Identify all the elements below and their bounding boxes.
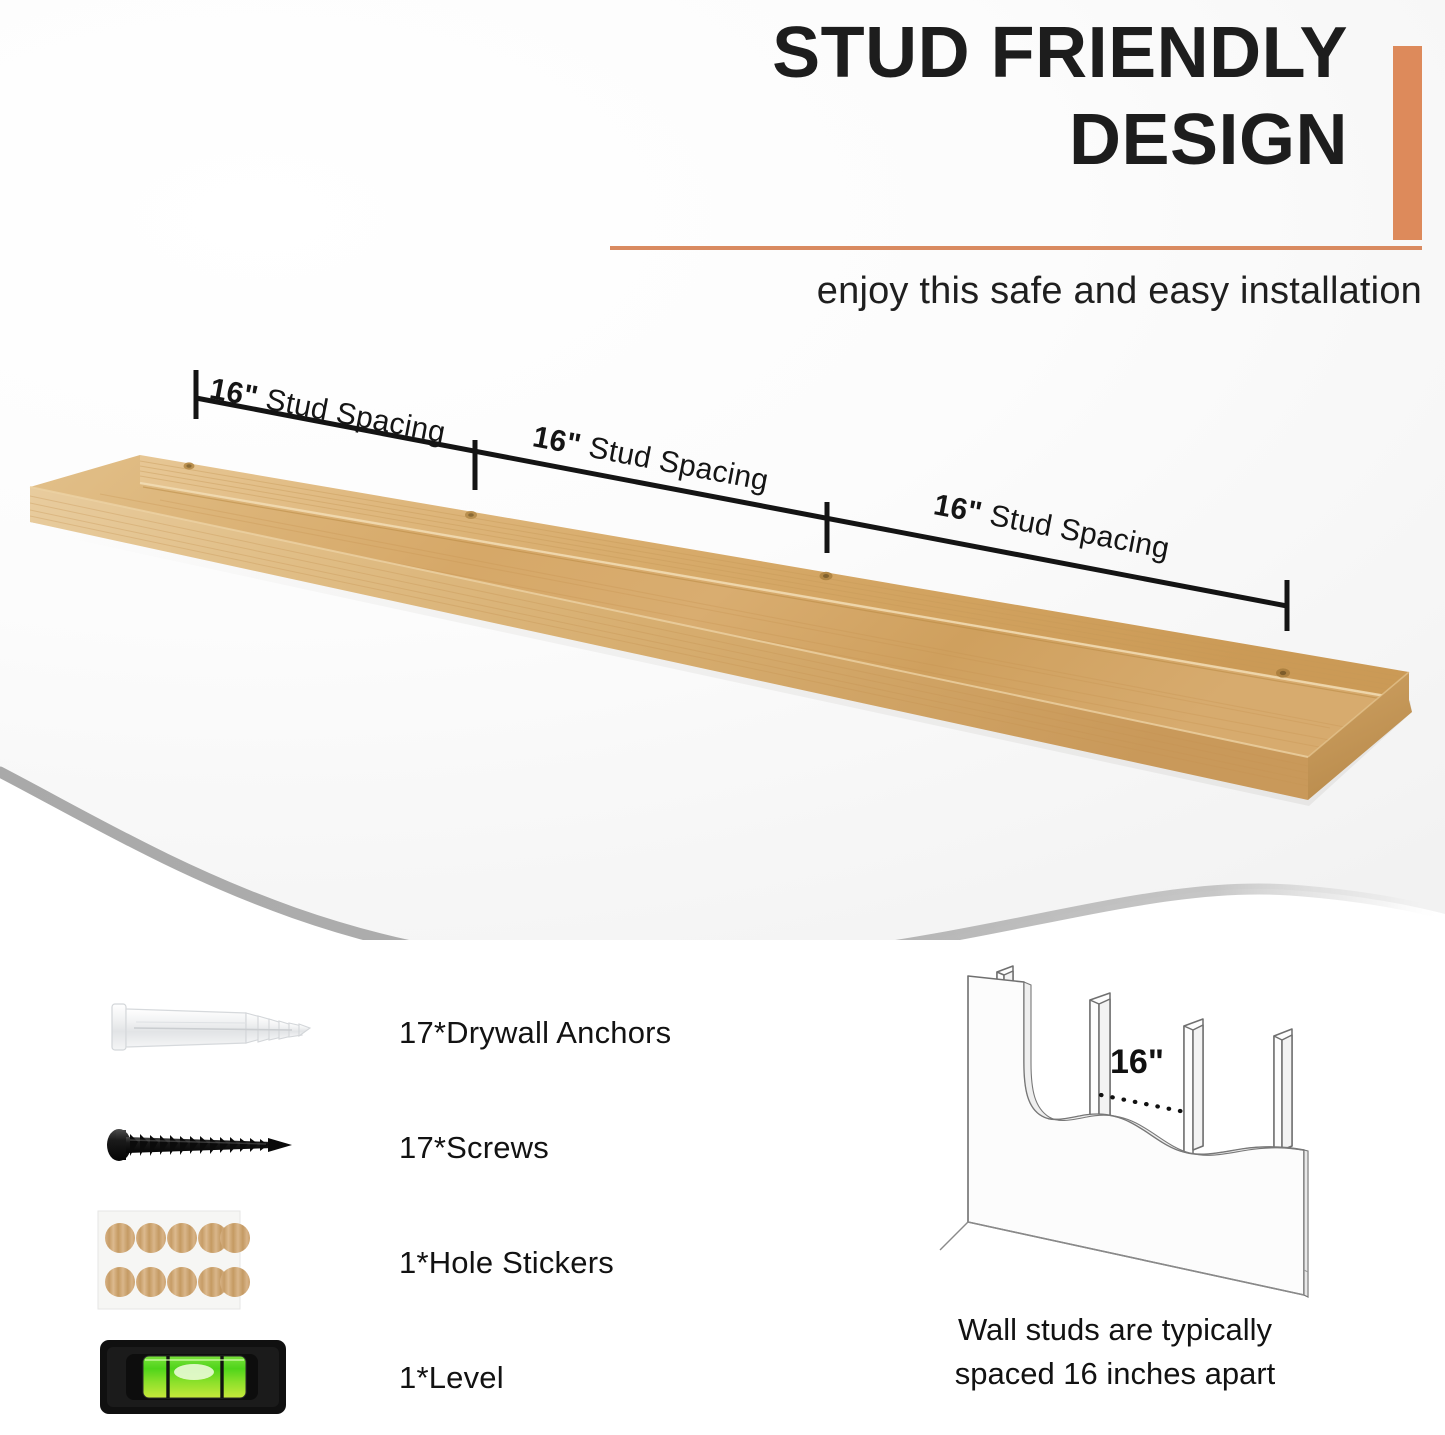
list-item-label: 17*Drywall Anchors <box>399 1015 671 1051</box>
list-item: 17*Screws <box>96 1090 736 1205</box>
caption-line-2: spaced 16 inches apart <box>880 1352 1350 1396</box>
mounting-screw <box>820 572 833 581</box>
drywall-anchor-icon <box>96 975 331 1085</box>
mounting-screw <box>1276 668 1290 677</box>
list-item-label: 1*Hole Stickers <box>399 1245 614 1281</box>
drywall-sheet <box>968 976 1308 1297</box>
list-item-label: 1*Level <box>399 1360 504 1396</box>
list-item: 1*Hole Stickers <box>96 1205 736 1320</box>
stud-dimension-line <box>1101 1095 1190 1113</box>
screw-icon <box>96 1090 331 1200</box>
mounting-screw <box>465 511 477 519</box>
stud <box>1274 1029 1292 1157</box>
list-item: 1*Level <box>96 1320 736 1435</box>
parts-and-studs-panel: 17*Drywall Anchors <box>0 940 1445 1420</box>
stud <box>1184 1019 1203 1156</box>
stud-figure-caption: Wall studs are typically spaced 16 inche… <box>880 1308 1350 1396</box>
caption-line-1: Wall studs are typically <box>880 1308 1350 1352</box>
mounting-screw <box>184 462 195 469</box>
parts-list: 17*Drywall Anchors <box>96 975 736 1435</box>
infographic-page: STUD FRIENDLY DESIGN enjoy this safe and… <box>0 0 1445 1420</box>
stud-dimension-label: 16" <box>1110 1043 1164 1081</box>
list-item: 17*Drywall Anchors <box>96 975 736 1090</box>
wall-stud-diagram: 16" <box>912 950 1322 1300</box>
level-icon <box>96 1320 331 1430</box>
hole-stickers-icon <box>96 1205 331 1315</box>
list-item-label: 17*Screws <box>399 1130 549 1166</box>
